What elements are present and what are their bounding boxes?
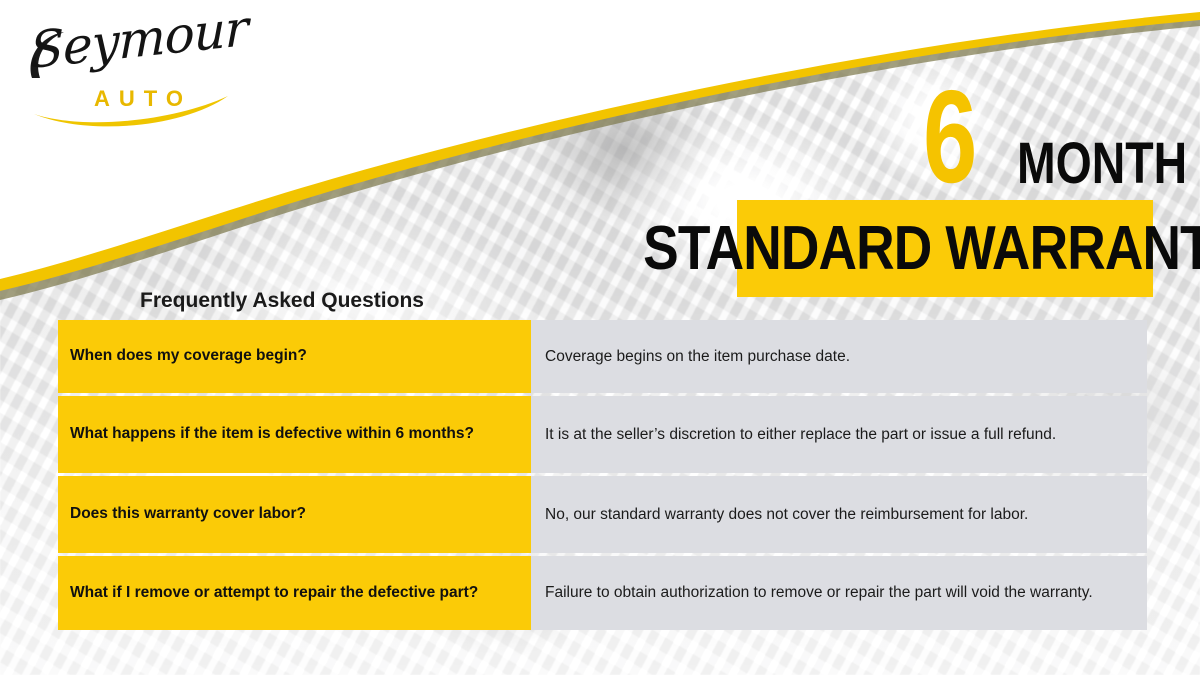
table-row: What if I remove or attempt to repair th… bbox=[58, 556, 1147, 630]
faq-question: What if I remove or attempt to repair th… bbox=[58, 556, 527, 630]
headline-number: 6 bbox=[923, 71, 976, 203]
headline-unit: MONTH bbox=[1017, 135, 1187, 193]
faq-answer: No, our standard warranty does not cover… bbox=[527, 476, 1147, 553]
faq-question: When does my coverage begin? bbox=[58, 320, 527, 393]
faq-question: What happens if the item is defective wi… bbox=[58, 396, 527, 473]
standard-warranty-banner: STANDARD WARRANTY bbox=[737, 200, 1153, 297]
headline-duration: 6 MONTH bbox=[905, 70, 1175, 195]
warranty-slide: Seymour AUTO 6 MONTH STANDARD WARRANTY F… bbox=[0, 0, 1200, 675]
table-row: Does this warranty cover labor? No, our … bbox=[58, 476, 1147, 553]
faq-question: Does this warranty cover labor? bbox=[58, 476, 527, 553]
table-row: What happens if the item is defective wi… bbox=[58, 396, 1147, 473]
brand-logo[interactable]: Seymour AUTO bbox=[22, 18, 262, 133]
faq-heading: Frequently Asked Questions bbox=[140, 289, 424, 313]
faq-table: When does my coverage begin? Coverage be… bbox=[58, 320, 1147, 633]
faq-answer: Coverage begins on the item purchase dat… bbox=[527, 320, 1147, 393]
table-row: When does my coverage begin? Coverage be… bbox=[58, 320, 1147, 393]
standard-warranty-banner-text: STANDARD WARRANTY bbox=[643, 218, 1200, 280]
faq-answer: Failure to obtain authorization to remov… bbox=[527, 556, 1147, 630]
logo-sub-text: AUTO bbox=[94, 86, 192, 112]
faq-answer: It is at the seller’s discretion to eith… bbox=[527, 396, 1147, 473]
